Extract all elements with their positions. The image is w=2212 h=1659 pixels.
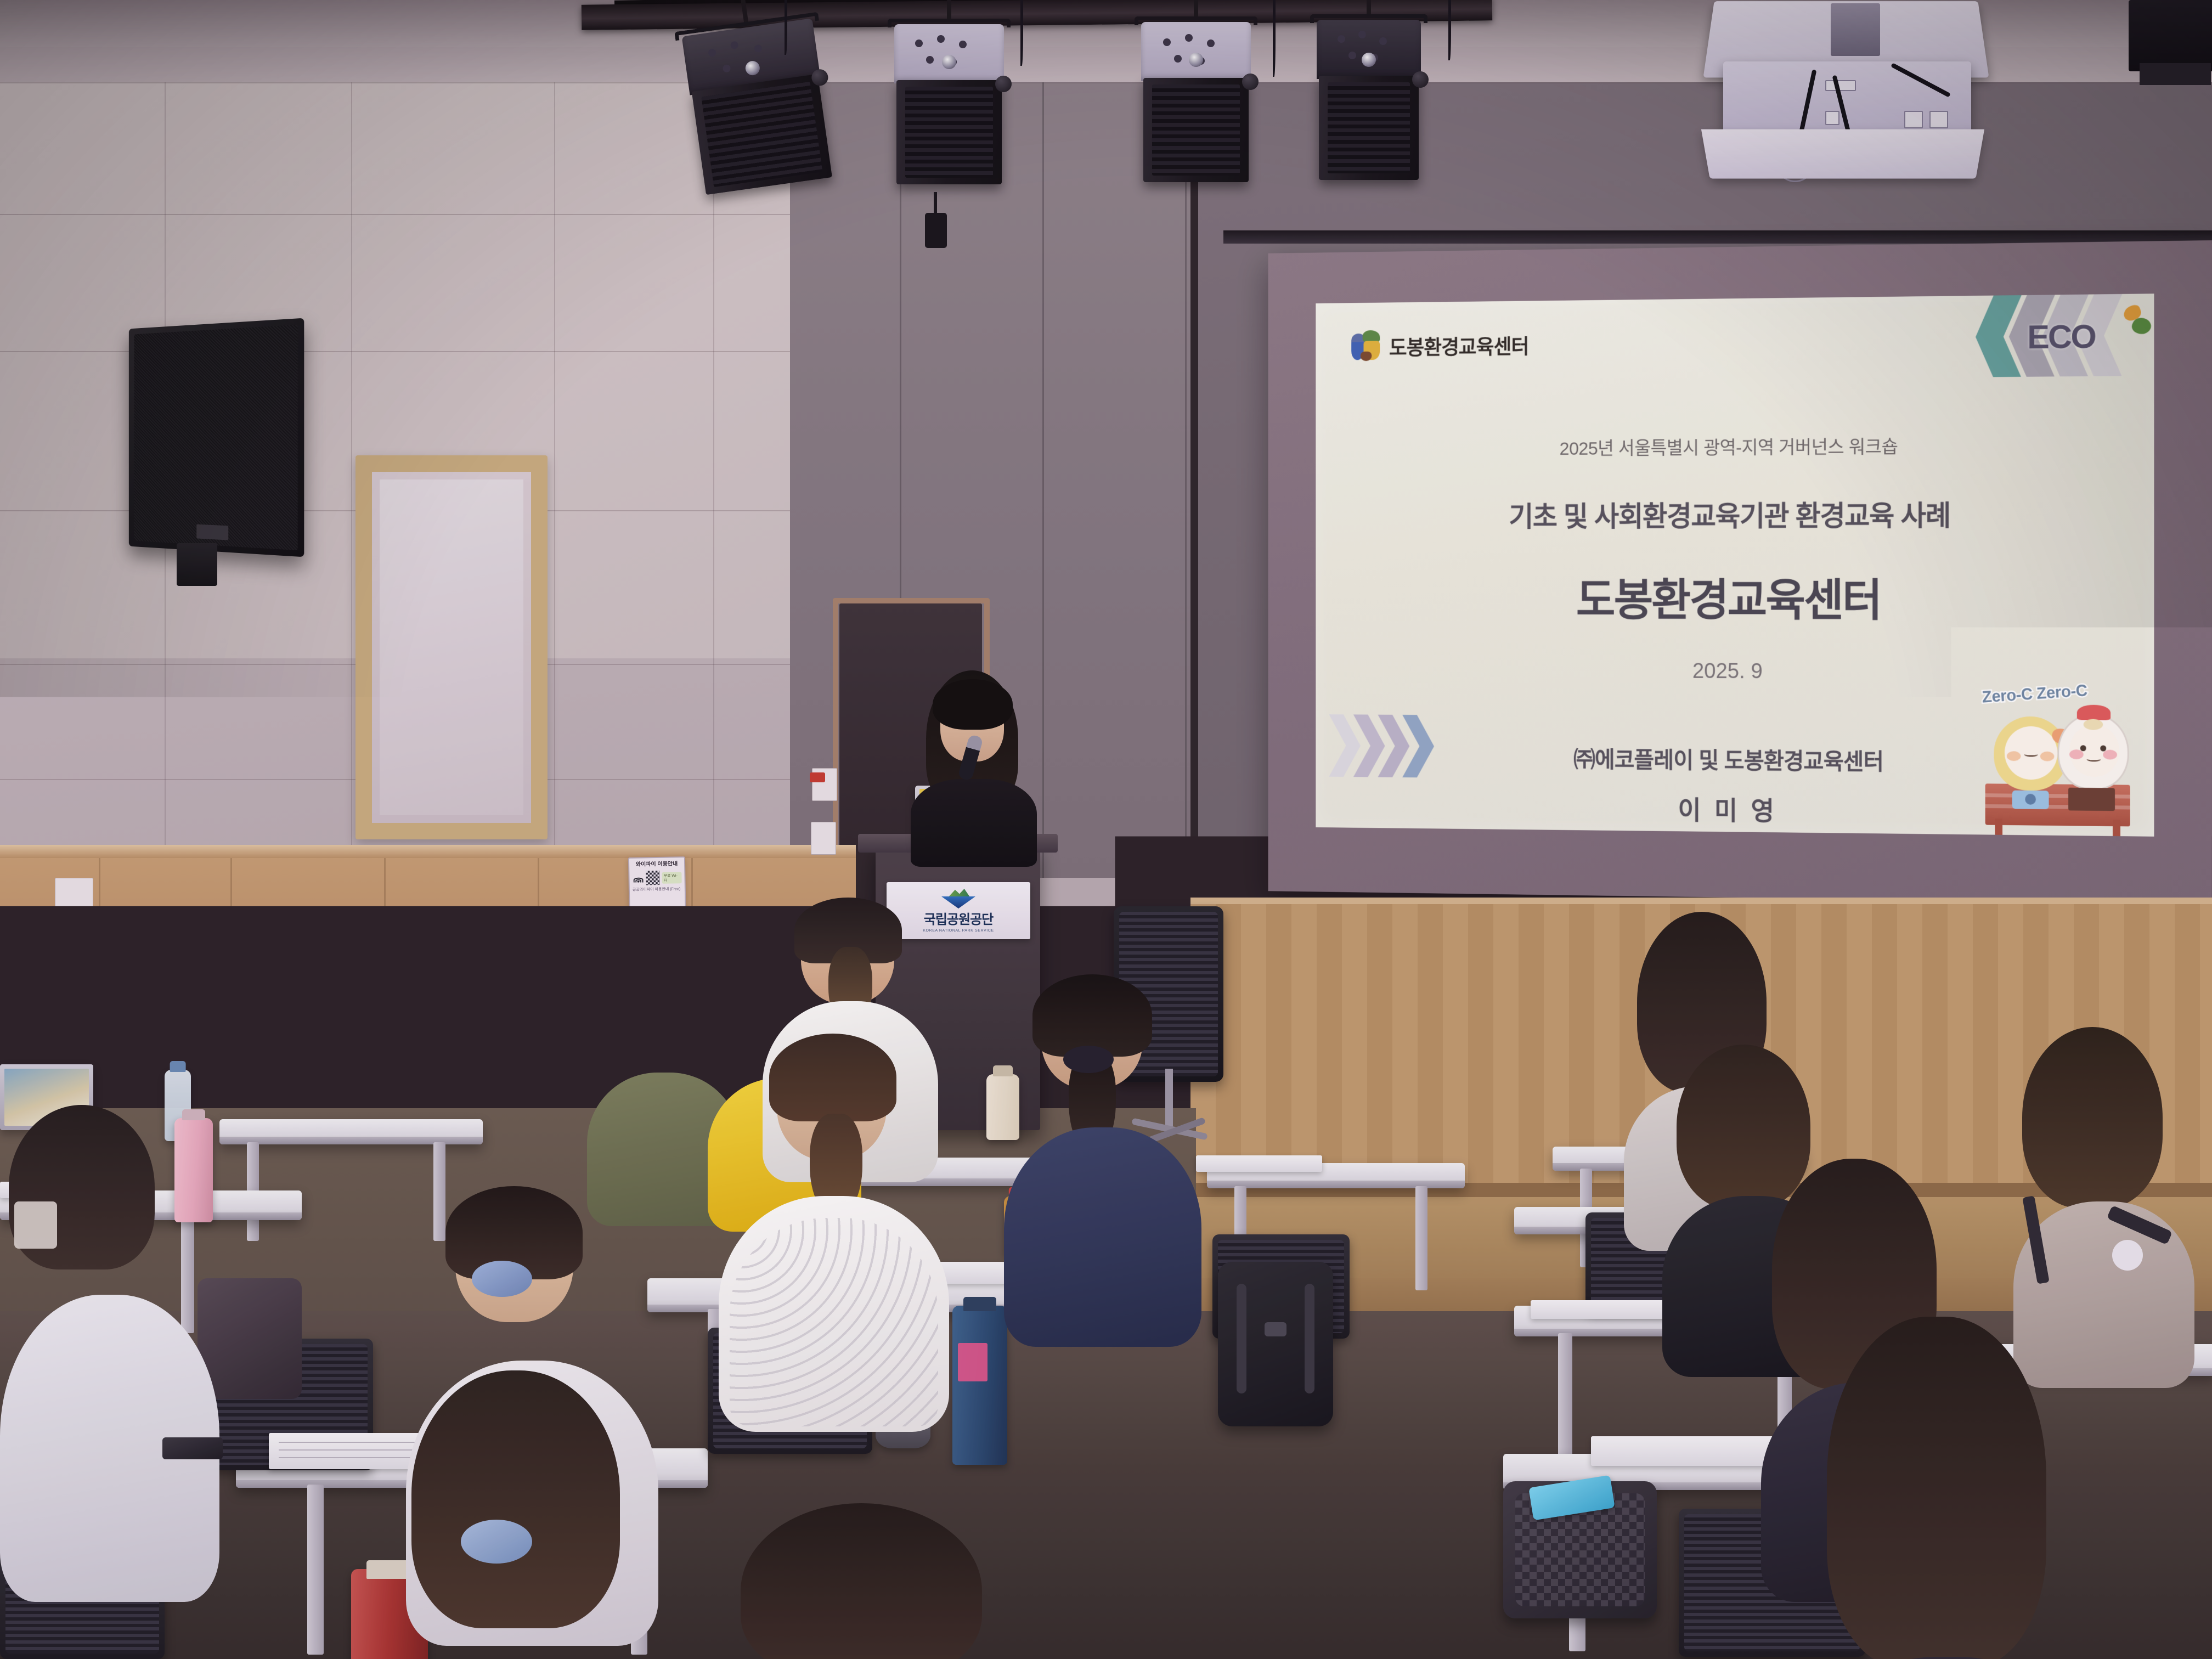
ceiling-sensor-icon xyxy=(925,213,947,248)
presenter-body xyxy=(911,779,1037,867)
presenter-hair-front xyxy=(933,679,1013,730)
wall-plate xyxy=(55,878,93,925)
poster-badge: 무료 Wi-Fi xyxy=(662,872,681,884)
slide-date: 2025. 9 xyxy=(1316,658,2154,686)
handout-papers xyxy=(1531,1300,1673,1319)
emergency-indicator xyxy=(810,772,825,782)
handout-papers xyxy=(1196,1155,1322,1172)
projection-screen: 도봉환경교육센터 ECO 2025년 서울특별시 광역-지역 거버넌스 워크숍 … xyxy=(1268,240,2212,904)
mascot-white xyxy=(2057,715,2129,798)
backpack xyxy=(1218,1262,1333,1426)
slide-subtitle: 기초 및 사회환경교육기관 환경교육 사례 xyxy=(1316,492,2154,534)
slide-chevron-decoration xyxy=(1329,714,1427,777)
podium-sign-en: KOREA NATIONAL PARK SERVICE xyxy=(923,929,994,933)
poster-title: 와이파이 이용안내 xyxy=(632,861,681,868)
wall-speaker xyxy=(129,318,304,557)
mascot-label: Zero-C Zero-C xyxy=(1982,681,2088,707)
ceiling-fixture-right xyxy=(2129,0,2212,71)
bag xyxy=(198,1278,302,1399)
lecture-hall-photo: 와이파이 이용안내 무료 Wi-Fi 공공와이파이 이용안내 (Free) 북한… xyxy=(0,0,2212,1659)
desk xyxy=(219,1119,483,1144)
wall-window xyxy=(356,455,548,839)
navy-bottle xyxy=(952,1306,1007,1465)
mascot-yellow xyxy=(1994,716,2067,798)
dobong-center-logo: 도봉환경교육센터 xyxy=(1351,329,1528,361)
podium-sign-ko: 국립공원공단 xyxy=(924,909,993,928)
pink-tumbler xyxy=(174,1118,213,1222)
wifi-icon xyxy=(632,873,644,882)
ceiling-projector xyxy=(1692,0,2000,165)
venue-sign: 북한산생태탐방원 xyxy=(208,1042,614,1108)
slide-kicker: 2025년 서울특별시 광역-지역 거버넌스 워크숍 xyxy=(1316,431,2154,461)
zero-c-mascots: Zero-C Zero-C xyxy=(1978,682,2140,827)
screen-top-bar xyxy=(1223,230,2212,244)
venue-sign-label: 북한산생태탐방원 xyxy=(347,1077,476,1104)
wall-plate xyxy=(811,822,836,855)
dobong-logo-icon xyxy=(1351,330,1381,361)
presentation-slide: 도봉환경교육센터 ECO 2025년 서울특별시 광역-지역 거버넌스 워크숍 … xyxy=(1316,294,2154,837)
phone-dark xyxy=(162,1437,223,1459)
wall-plate xyxy=(120,925,142,944)
beige-cup xyxy=(986,1074,1019,1140)
slide-logo-text: 도봉환경교육센터 xyxy=(1389,329,1528,360)
slide-title: 도봉환경교육센터 xyxy=(1316,564,2154,629)
poster-note: 공공와이파이 이용안내 (Free) xyxy=(633,887,682,893)
qr-code-icon xyxy=(646,871,659,885)
speaker-mount-bracket xyxy=(177,543,217,586)
eco-badge: ECO xyxy=(1976,294,2154,377)
badge-button xyxy=(2112,1240,2143,1271)
knps-logo-icon xyxy=(941,889,975,907)
podium-sign: 국립공원공단 KOREA NATIONAL PARK SERVICE xyxy=(887,882,1030,939)
wall-plate xyxy=(66,955,98,995)
wifi-info-poster: 와이파이 이용안내 무료 Wi-Fi 공공와이파이 이용안내 (Free) xyxy=(628,856,686,929)
eco-wordmark: ECO xyxy=(2027,317,2095,357)
